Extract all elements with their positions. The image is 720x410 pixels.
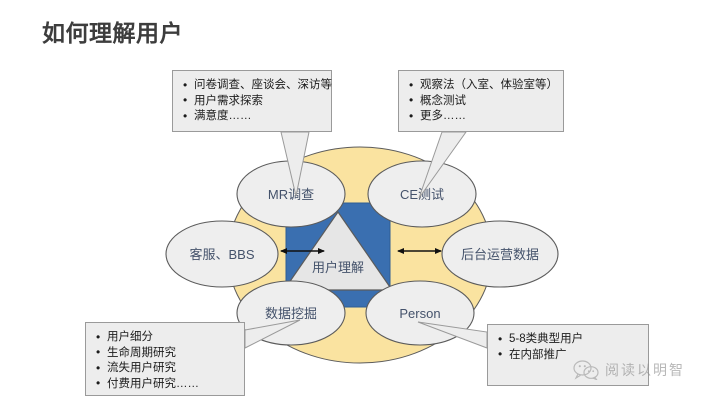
callout-item: 观察法（入室、体验室等） — [409, 78, 554, 94]
node-label-ps: Person — [399, 306, 440, 321]
callout-item: 满意度…… — [183, 109, 322, 125]
center-label: 用户理解 — [312, 260, 364, 275]
callout-box-mr: 问卷调查、座谈会、深访等 用户需求探索 满意度…… — [172, 70, 332, 132]
callout-item: 更多…… — [409, 109, 554, 125]
callout-item: 在内部推广 — [498, 348, 639, 364]
slide-canvas: 如何理解用户 用户理解 MR调查 CE测试 — [0, 0, 720, 410]
callout-item: 用户细分 — [96, 330, 235, 346]
callout-item: 用户需求探索 — [183, 94, 322, 110]
callout-item: 概念测试 — [409, 94, 554, 110]
callout-box-ce: 观察法（入室、体验室等） 概念测试 更多…… — [398, 70, 564, 132]
callout-item: 5-8类典型用户 — [498, 332, 639, 348]
node-label-dm: 数据挖掘 — [265, 306, 317, 321]
callout-item: 付费用户研究…… — [96, 377, 235, 393]
callout-box-dm: 用户细分 生命周期研究 流失用户研究 付费用户研究…… — [85, 322, 245, 396]
callout-box-ps: 5-8类典型用户 在内部推广 — [487, 324, 649, 386]
callout-item: 生命周期研究 — [96, 346, 235, 362]
node-label-mr: MR调查 — [268, 187, 314, 202]
node-label-bk: 后台运营数据 — [461, 247, 539, 262]
callout-item: 问卷调查、座谈会、深访等 — [183, 78, 322, 94]
callout-item: 流失用户研究 — [96, 361, 235, 377]
node-label-cs: 客服、BBS — [189, 247, 254, 262]
